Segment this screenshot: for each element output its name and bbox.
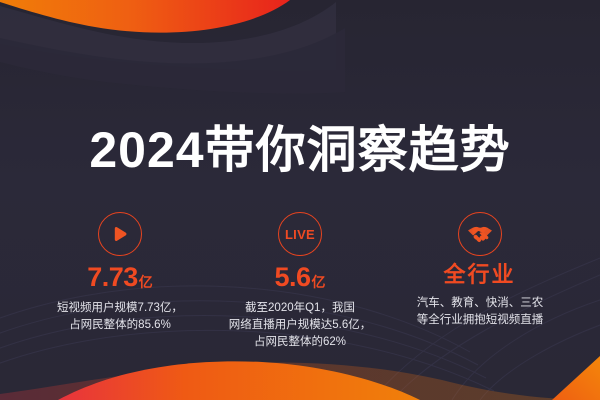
poster-canvas: 2024带你洞察趋势 7.73亿 短视频用户规模7.73亿， 占网民整体的85.… [0,0,600,400]
play-icon-glyph [109,223,131,245]
stat-card-short-video: 7.73亿 短视频用户规模7.73亿， 占网民整体的85.6% [30,212,210,334]
stat-desc-industries: 汽车、教育、快消、三农 等全行业拥抱短视频直播 [394,295,566,329]
stat-desc-live: 截至2020年Q1，我国 网络直播用户规模达5.6亿， 占网民整体的62% [214,300,386,351]
play-icon [98,212,142,256]
handshake-icon-glyph [467,223,493,245]
stat-unit: 亿 [139,274,153,290]
title-block: 2024带你洞察趋势 [0,86,600,213]
stat-number: 5.6 [274,262,310,292]
stat-number: 7.73 [87,262,138,292]
handshake-icon [458,212,502,256]
stat-number: 全行业 [443,262,515,287]
stats-row: 7.73亿 短视频用户规模7.73亿， 占网民整体的85.6% LIVE 5.6… [0,212,600,351]
stat-card-live: LIVE 5.6亿 截至2020年Q1，我国 网络直播用户规模达5.6亿， 占网… [210,212,390,351]
stat-value-short-video: 7.73亿 [34,264,206,291]
live-badge-label: LIVE [285,228,315,241]
stat-value-industries: 全行业 [394,264,566,286]
stat-unit: 亿 [312,274,326,290]
stat-desc-short-video: 短视频用户规模7.73亿， 占网民整体的85.6% [34,300,206,334]
page-title: 2024带你洞察趋势 [89,120,510,180]
stat-value-live: 5.6亿 [214,264,386,291]
live-badge-icon: LIVE [278,212,322,256]
stat-card-industries: 全行业 汽车、教育、快消、三农 等全行业拥抱短视频直播 [390,212,570,329]
